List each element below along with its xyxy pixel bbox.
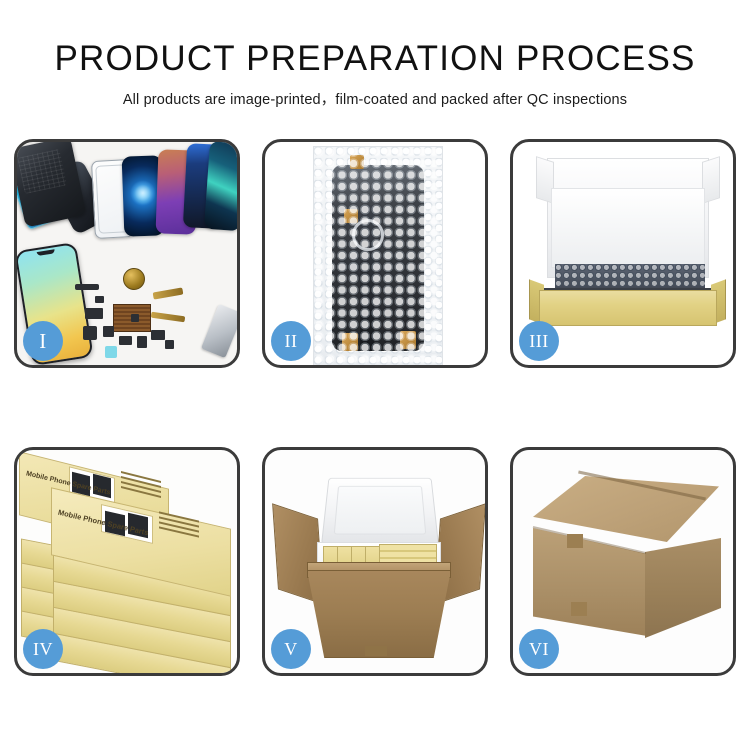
phone-back-housing [17,142,87,228]
page-title: PRODUCT PREPARATION PROCESS [0,38,750,80]
step-panel-3-open-box-foam: III [510,139,736,368]
step-panel-5-carton-with-foam: V [262,447,488,676]
part-item [151,330,165,340]
carton-tape-upper [567,534,583,548]
part-item [85,308,103,319]
header: PRODUCT PREPARATION PROCESS All products… [0,38,750,109]
white-foam-liner [551,188,705,268]
repair-tool-icon [201,304,237,358]
bubble-wrap-pouch [313,146,443,365]
step-panel-2-bubble-wrapped: II [262,139,488,368]
carton-body [307,570,451,658]
step-badge-2: II [271,321,311,361]
part-item [119,336,132,345]
carton-right-face [645,538,721,638]
part-item [103,326,114,337]
product-preparation-infographic: PRODUCT PREPARATION PROCESS All products… [0,0,750,750]
process-steps-grid: I II [14,139,736,676]
flex-cable-2 [151,312,186,323]
step-panel-6-sealed-carton: VI [510,447,736,676]
part-item [131,314,139,322]
speaker-coil-icon [123,268,145,290]
carton-left-face [533,528,647,636]
part-item [137,336,147,348]
step-badge-6: VI [519,629,559,669]
step-panel-1-phone-parts: I [14,139,240,368]
part-item [95,296,104,303]
box-front-panel [539,290,717,326]
step-badge-3: III [519,321,559,361]
step-badge-1: I [23,321,63,361]
phone-screen-teal [204,142,237,231]
flex-cable-1 [153,287,184,299]
step-badge-4: IV [23,629,63,669]
carton-tape [365,646,387,656]
step-badge-5: V [271,629,311,669]
part-bar [75,284,99,290]
foam-box-lid [321,478,439,545]
step-panel-4-stacked-boxes: Mobile Phone Spare Parts Mobile Phone Sp… [14,447,240,676]
part-item-teal [105,346,117,358]
spare-parts-cluster [75,268,195,364]
bubble-texture-overlay [314,147,442,365]
part-item [165,340,174,349]
part-item [83,326,97,340]
carton-tape-lower [571,602,587,616]
page-subtitle: All products are image-printed，film-coat… [0,88,750,109]
